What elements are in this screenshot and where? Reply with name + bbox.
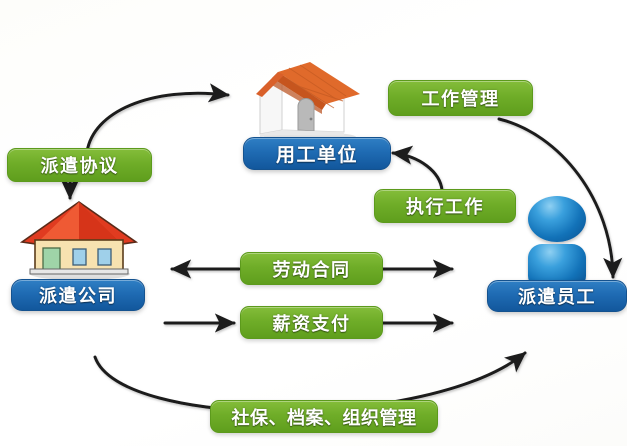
relation-salary-payment-label: 薪资支付: [273, 310, 351, 336]
relation-execute-work[interactable]: 执行工作: [374, 189, 516, 223]
relation-execute-work-label: 执行工作: [406, 193, 484, 219]
arrow-agreement-to-unit: [87, 93, 228, 152]
relation-salary-payment[interactable]: 薪资支付: [240, 306, 383, 339]
person-icon: [527, 196, 587, 288]
relation-dispatch-agreement-label: 派遣协议: [41, 152, 119, 178]
node-dispatch-company[interactable]: 派遣公司: [11, 279, 145, 311]
node-employing-unit-label: 用工单位: [276, 140, 358, 167]
relation-labor-contract-label: 劳动合同: [273, 256, 351, 282]
node-employing-unit[interactable]: 用工单位: [243, 137, 391, 170]
relation-labor-contract[interactable]: 劳动合同: [240, 252, 383, 285]
arrow-execute-to-unit: [393, 153, 442, 190]
person-head: [528, 196, 586, 242]
relation-social-insurance-archive-org[interactable]: 社保、档案、组织管理: [210, 400, 438, 433]
house-red-roof-icon: [18, 196, 140, 280]
relation-dispatch-agreement[interactable]: 派遣协议: [7, 148, 152, 182]
node-dispatch-company-label: 派遣公司: [39, 282, 117, 308]
house-orange-roof-icon: [248, 58, 366, 142]
node-dispatched-employee-label: 派遣员工: [518, 283, 596, 309]
relation-work-management-label: 工作管理: [422, 85, 500, 111]
node-dispatched-employee[interactable]: 派遣员工: [487, 280, 627, 312]
relation-social-insurance-archive-org-label: 社保、档案、组织管理: [232, 404, 417, 430]
relation-work-management[interactable]: 工作管理: [388, 80, 533, 116]
diagram-canvas: 用工单位 派遣公司 派遣员工 派遣协议: [0, 0, 627, 446]
